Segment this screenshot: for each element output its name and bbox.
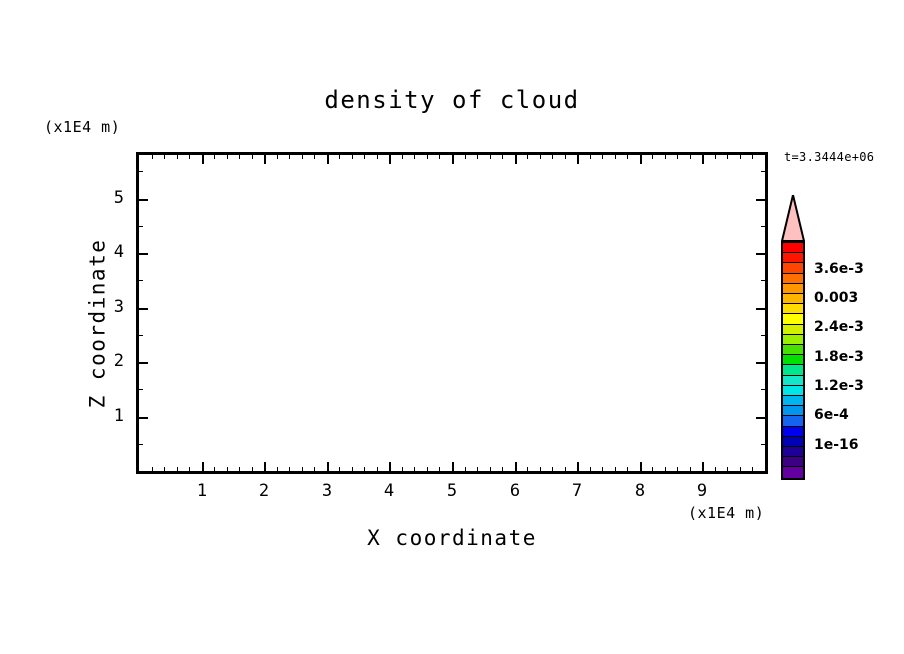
axis-tick-mark [352, 152, 353, 159]
colorbar-band [783, 416, 803, 426]
axis-tick-mark [740, 152, 741, 159]
axis-tick-mark [136, 335, 143, 336]
axis-tick-mark [577, 152, 579, 164]
colorbar-band [783, 314, 803, 324]
colorbar-tick-label: 1.2e-3 [814, 379, 864, 393]
colorbar-tick-label: 0.003 [814, 291, 858, 305]
axis-tick-mark [515, 152, 517, 164]
axis-tick-mark [227, 467, 228, 474]
axis-tick-mark [490, 152, 491, 159]
axis-tick-mark [136, 308, 148, 310]
axis-tick-mark [665, 467, 666, 474]
colorbar-band [783, 253, 803, 263]
axis-tick-mark [136, 226, 143, 227]
axis-tick-mark [389, 462, 391, 474]
y-axis-unit-label: (x1E4 m) [44, 120, 120, 135]
colorbar-band [783, 304, 803, 314]
axis-tick-mark [715, 467, 716, 474]
colorbar-band [783, 406, 803, 416]
axis-tick-mark [177, 152, 178, 159]
axis-tick-mark [761, 335, 768, 336]
axis-tick-mark [339, 152, 340, 159]
axis-tick-label: 4 [359, 483, 419, 500]
axis-tick-mark [264, 152, 266, 164]
axis-tick-mark [136, 280, 143, 281]
colorbar-arrow-cap [781, 195, 805, 243]
colorbar-band [783, 376, 803, 386]
axis-tick-mark [402, 152, 403, 159]
axis-tick-mark [177, 467, 178, 474]
axis-tick-mark [152, 467, 153, 474]
axis-tick-mark [189, 467, 190, 474]
axis-tick-mark [761, 444, 768, 445]
axis-tick-mark [615, 467, 616, 474]
axis-tick-mark [389, 152, 391, 164]
axis-tick-mark [752, 467, 753, 474]
colorbar-band [783, 243, 803, 253]
axis-tick-mark [602, 467, 603, 474]
colorbar-band [783, 263, 803, 273]
axis-tick-mark [740, 467, 741, 474]
axis-tick-mark [164, 152, 165, 159]
axis-tick-mark [377, 152, 378, 159]
axis-tick-mark [352, 467, 353, 474]
axis-tick-mark [502, 467, 503, 474]
axis-tick-label: 7 [547, 483, 607, 500]
axis-tick-mark [189, 152, 190, 159]
axis-tick-mark [640, 462, 642, 474]
axis-tick-mark [136, 253, 148, 255]
axis-tick-mark [590, 152, 591, 159]
colorbar[interactable] [781, 241, 805, 480]
axis-tick-mark [302, 467, 303, 474]
axis-tick-mark [239, 152, 240, 159]
axis-tick-mark [136, 444, 143, 445]
axis-tick-mark [761, 280, 768, 281]
axis-tick-mark [202, 462, 204, 474]
colorbar-band [783, 457, 803, 467]
axis-tick-mark [715, 152, 716, 159]
axis-tick-mark [227, 152, 228, 159]
axis-tick-mark [339, 467, 340, 474]
axis-tick-mark [640, 152, 642, 164]
plot-frame [136, 152, 768, 474]
axis-tick-mark [252, 152, 253, 159]
axis-tick-mark [214, 152, 215, 159]
axis-tick-mark [602, 152, 603, 159]
axis-tick-mark [490, 467, 491, 474]
axis-tick-mark [652, 467, 653, 474]
colorbar-band [783, 325, 803, 335]
colorbar-band [783, 427, 803, 437]
time-annotation: t=3.3444e+06 [784, 151, 874, 163]
axis-tick-mark [527, 152, 528, 159]
axis-tick-mark [136, 417, 148, 419]
colorbar-band [783, 345, 803, 355]
axis-tick-label: 9 [672, 483, 732, 500]
axis-tick-mark [552, 152, 553, 159]
colorbar-band [783, 284, 803, 294]
axis-tick-mark [761, 226, 768, 227]
axis-tick-mark [327, 152, 329, 164]
axis-tick-mark [465, 467, 466, 474]
axis-tick-mark [427, 152, 428, 159]
axis-tick-mark [565, 152, 566, 159]
axis-tick-mark [702, 462, 704, 474]
y-axis-title: Z coordinate [88, 204, 109, 444]
axis-tick-mark [452, 152, 454, 164]
axis-tick-mark [727, 467, 728, 474]
axis-tick-label: 8 [610, 483, 670, 500]
axis-tick-mark [627, 467, 628, 474]
axis-tick-mark [239, 467, 240, 474]
axis-tick-label: 5 [422, 483, 482, 500]
axis-tick-mark [377, 467, 378, 474]
axis-tick-mark [465, 152, 466, 159]
axis-tick-mark [756, 253, 768, 255]
axis-tick-mark [277, 467, 278, 474]
axis-tick-label: 6 [485, 483, 545, 500]
axis-tick-mark [727, 152, 728, 159]
axis-tick-mark [477, 467, 478, 474]
axis-tick-mark [540, 152, 541, 159]
axis-tick-mark [289, 152, 290, 159]
axis-tick-mark [414, 152, 415, 159]
axis-tick-mark [439, 467, 440, 474]
colorbar-band [783, 365, 803, 375]
colorbar-tick-label: 3.6e-3 [814, 262, 864, 276]
axis-tick-mark [302, 152, 303, 159]
page-title: density of cloud [0, 88, 904, 112]
axis-tick-mark [527, 467, 528, 474]
axis-tick-mark [252, 467, 253, 474]
axis-tick-mark [677, 152, 678, 159]
axis-tick-mark [439, 152, 440, 159]
axis-tick-mark [214, 467, 215, 474]
axis-tick-mark [577, 462, 579, 474]
colorbar-tick-label: 2.4e-3 [814, 320, 864, 334]
axis-tick-mark [702, 152, 704, 164]
axis-tick-mark [164, 467, 165, 474]
axis-tick-mark [364, 467, 365, 474]
axis-tick-mark [314, 152, 315, 159]
colorbar-tick-label: 1e-16 [814, 438, 859, 452]
colorbar-band [783, 274, 803, 284]
axis-tick-mark [552, 467, 553, 474]
colorbar-band [783, 294, 803, 304]
axis-tick-mark [690, 467, 691, 474]
colorbar-band [783, 396, 803, 406]
axis-tick-mark [477, 152, 478, 159]
axis-tick-mark [136, 171, 143, 172]
axis-tick-mark [756, 199, 768, 201]
axis-tick-label: 2 [234, 483, 294, 500]
axis-tick-mark [289, 467, 290, 474]
colorbar-band [783, 447, 803, 457]
colorbar-band [783, 335, 803, 345]
axis-tick-mark [761, 389, 768, 390]
axis-tick-mark [665, 152, 666, 159]
figure-canvas: density of cloud (x1E4 m) t=3.3444e+06 1… [0, 0, 904, 654]
colorbar-band [783, 467, 803, 477]
axis-tick-mark [502, 152, 503, 159]
axis-tick-mark [402, 467, 403, 474]
axis-tick-mark [756, 417, 768, 419]
colorbar-band [783, 386, 803, 396]
axis-tick-mark [627, 152, 628, 159]
axis-tick-mark [152, 152, 153, 159]
colorbar-band [783, 355, 803, 365]
axis-tick-mark [136, 362, 148, 364]
axis-tick-mark [314, 467, 315, 474]
axis-tick-mark [565, 467, 566, 474]
axis-tick-mark [515, 462, 517, 474]
axis-tick-label: 3 [297, 483, 357, 500]
colorbar-tick-label: 1.8e-3 [814, 350, 864, 364]
axis-tick-mark [756, 362, 768, 364]
axis-tick-label: 1 [172, 483, 232, 500]
axis-tick-mark [427, 467, 428, 474]
colorbar-tick-label: 6e-4 [814, 408, 849, 422]
axis-tick-mark [615, 152, 616, 159]
axis-tick-mark [364, 152, 365, 159]
axis-tick-mark [136, 389, 143, 390]
x-axis-unit-label: (x1E4 m) [688, 506, 764, 521]
axis-tick-mark [327, 462, 329, 474]
axis-tick-mark [202, 152, 204, 164]
axis-tick-mark [277, 152, 278, 159]
axis-tick-mark [761, 171, 768, 172]
axis-tick-mark [690, 152, 691, 159]
axis-tick-mark [414, 467, 415, 474]
axis-tick-mark [752, 152, 753, 159]
axis-tick-mark [540, 467, 541, 474]
colorbar-band [783, 437, 803, 447]
axis-tick-mark [677, 467, 678, 474]
axis-tick-mark [264, 462, 266, 474]
axis-tick-mark [756, 308, 768, 310]
axis-tick-mark [452, 462, 454, 474]
axis-tick-mark [652, 152, 653, 159]
x-axis-title: X coordinate [136, 528, 768, 549]
axis-tick-mark [136, 199, 148, 201]
axis-tick-mark [590, 467, 591, 474]
